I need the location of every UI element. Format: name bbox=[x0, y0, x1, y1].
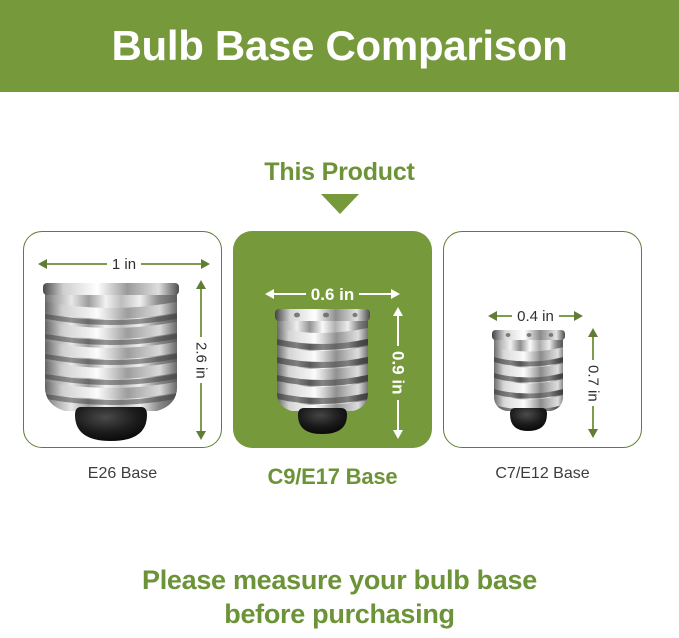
footer-note-line-1: Please measure your bulb base bbox=[0, 563, 679, 597]
height-label-c7: 0.7 in bbox=[586, 360, 601, 407]
triangle-down-icon bbox=[321, 194, 359, 214]
this-product-callout: This Product bbox=[0, 160, 679, 214]
arrow-up-icon bbox=[588, 328, 598, 337]
panel-captions: E26 Base C9/E17 Base C7/E12 Base bbox=[23, 466, 642, 498]
this-product-label: This Product bbox=[0, 160, 679, 185]
dimension-line bbox=[592, 337, 594, 360]
height-dimension-c7: 0.7 in bbox=[582, 328, 604, 438]
arrow-up-icon bbox=[393, 307, 403, 316]
footer-note: Please measure your bulb base before pur… bbox=[0, 563, 679, 631]
bulb-base-c7-e12-icon bbox=[489, 328, 568, 431]
width-label-c7: 0.4 in bbox=[512, 309, 559, 324]
width-label-e26: 1 in bbox=[107, 257, 141, 272]
caption-c7-e12-label: C7/E12 Base bbox=[495, 465, 589, 482]
arrow-down-icon bbox=[588, 429, 598, 438]
bulb-base-e26-icon bbox=[37, 279, 185, 441]
arrow-left-icon bbox=[38, 259, 47, 269]
footer-note-line-2: before purchasing bbox=[0, 597, 679, 631]
dimension-line bbox=[274, 293, 306, 295]
arrow-right-icon bbox=[201, 259, 210, 269]
height-dimension-e26: 2.6 in bbox=[190, 280, 212, 440]
dimension-line bbox=[359, 293, 391, 295]
dimension-line bbox=[497, 315, 512, 317]
height-label-c9: 0.9 in bbox=[390, 346, 407, 399]
page-title: Bulb Base Comparison bbox=[101, 25, 577, 67]
caption-c9-e17-label: C9/E17 Base bbox=[268, 464, 398, 489]
dimension-line bbox=[200, 289, 202, 337]
arrow-right-icon bbox=[574, 311, 583, 321]
dimension-line bbox=[397, 316, 399, 346]
dimension-line bbox=[200, 383, 202, 431]
width-dimension-c9: 0.6 in bbox=[265, 284, 400, 304]
arrow-left-icon bbox=[265, 289, 274, 299]
caption-e26-label: E26 Base bbox=[88, 465, 157, 482]
dimension-line bbox=[47, 263, 107, 265]
arrow-up-icon bbox=[196, 280, 206, 289]
bulb-base-c9-e17-icon bbox=[271, 307, 374, 434]
dimension-line bbox=[592, 406, 594, 429]
height-label-e26: 2.6 in bbox=[194, 337, 209, 384]
arrow-down-icon bbox=[393, 430, 403, 439]
header-banner: Bulb Base Comparison bbox=[0, 0, 679, 92]
arrow-left-icon bbox=[488, 311, 497, 321]
width-label-c9: 0.6 in bbox=[306, 286, 359, 303]
height-dimension-c9: 0.9 in bbox=[387, 307, 409, 439]
panel-e26[interactable]: 1 in bbox=[23, 231, 222, 448]
caption-e26: E26 Base bbox=[23, 466, 222, 482]
panel-c7-e12[interactable]: 0.4 in bbox=[443, 231, 642, 448]
width-dimension-e26: 1 in bbox=[38, 254, 210, 274]
panel-c9-e17[interactable]: 0.6 in bbox=[233, 231, 432, 448]
dimension-line bbox=[141, 263, 201, 265]
dimension-line bbox=[559, 315, 574, 317]
caption-c9-e17: C9/E17 Base bbox=[233, 466, 432, 488]
dimension-line bbox=[397, 400, 399, 430]
width-dimension-c7: 0.4 in bbox=[488, 306, 583, 326]
caption-c7-e12: C7/E12 Base bbox=[443, 466, 642, 482]
arrow-right-icon bbox=[391, 289, 400, 299]
comparison-panels: 1 in bbox=[23, 231, 642, 448]
arrow-down-icon bbox=[196, 431, 206, 440]
